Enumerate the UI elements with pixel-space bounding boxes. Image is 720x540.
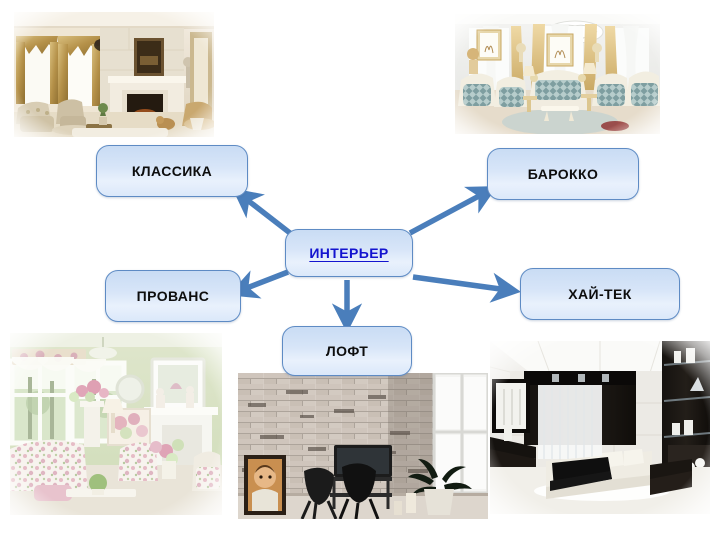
node-haitek-label: ХАЙ-ТЕК	[568, 287, 631, 301]
node-klassika-label: КЛАССИКА	[132, 164, 212, 178]
photo-baroque	[455, 14, 660, 134]
photo-hitech	[490, 341, 710, 514]
arrow-to-klassika	[237, 192, 290, 233]
node-provans-label: ПРОВАНС	[137, 289, 210, 303]
arrow-to-barokko	[410, 189, 492, 233]
node-haitek[interactable]: ХАЙ-ТЕК	[520, 268, 680, 320]
node-interior[interactable]: ИНТЕРЬЕР	[285, 229, 413, 277]
arrow-to-haitek	[413, 277, 515, 291]
photo-provence	[10, 333, 222, 515]
node-barokko-label: БАРОККО	[528, 167, 598, 181]
node-klassika[interactable]: КЛАССИКА	[96, 145, 248, 197]
node-barokko[interactable]: БАРОККО	[487, 148, 639, 200]
node-loft[interactable]: ЛОФТ	[282, 326, 412, 376]
node-provans[interactable]: ПРОВАНС	[105, 270, 241, 322]
node-loft-label: ЛОФТ	[326, 344, 368, 358]
node-interior-label: ИНТЕРЬЕР	[309, 246, 388, 260]
arrow-to-provans	[234, 272, 288, 293]
photo-loft	[238, 373, 488, 519]
diagram-canvas: ИНТЕРЬЕР КЛАССИКА БАРОККО ПРОВАНС ЛОФТ Х…	[0, 0, 720, 540]
photo-classic	[14, 12, 214, 137]
